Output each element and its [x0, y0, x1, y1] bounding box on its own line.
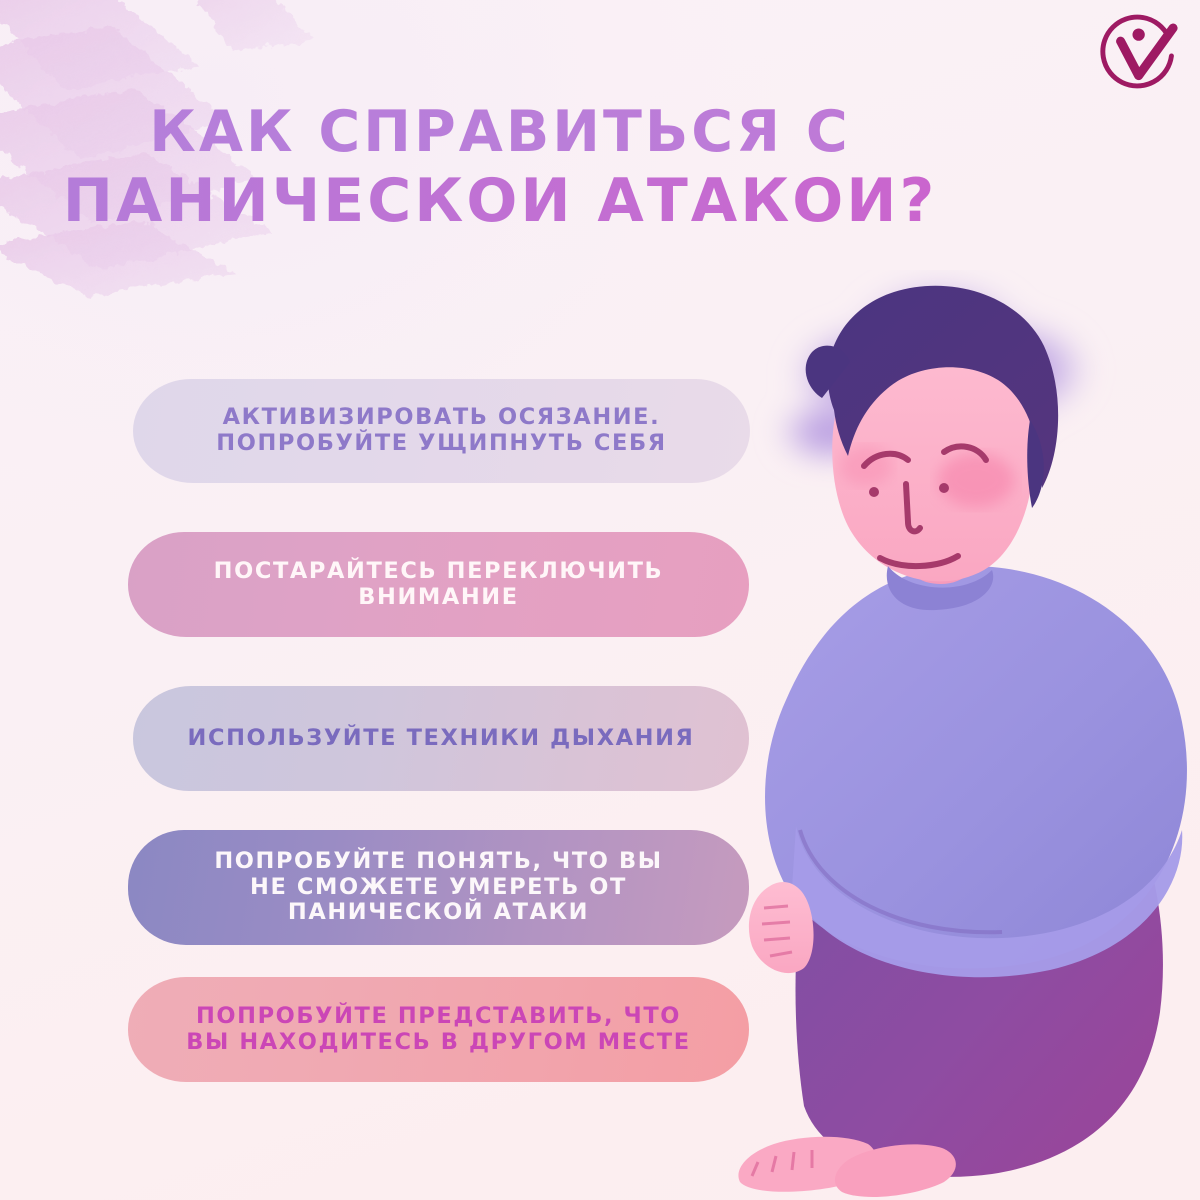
tip-text-2: ПОСТАРАЙТЕСЬ ПЕРЕКЛЮЧИТЬ ВНИМАНИЕ — [128, 559, 749, 610]
sad-person-illustration — [730, 270, 1200, 1200]
tip-text-4: ПОПРОБУЙТЕ ПОНЯТЬ, ЧТО ВЫ НЕ СМОЖЕТЕ УМЕ… — [188, 849, 688, 926]
person-hugging-knees-icon — [730, 270, 1200, 1200]
logo-icon — [1096, 10, 1178, 92]
hand — [749, 882, 814, 973]
eye-right — [939, 483, 949, 493]
tips-list: АКТИВИЗИРОВАТЬ ОСЯЗАНИЕ. ПОПРОБУЙТЕ УЩИП… — [0, 0, 790, 1200]
tip-pill-4[interactable]: ПОПРОБУЙТЕ ПОНЯТЬ, ЧТО ВЫ НЕ СМОЖЕТЕ УМЕ… — [128, 830, 749, 945]
tip-pill-1[interactable]: АКТИВИЗИРОВАТЬ ОСЯЗАНИЕ. ПОПРОБУЙТЕ УЩИП… — [133, 379, 750, 483]
tip-text-1: АКТИВИЗИРОВАТЬ ОСЯЗАНИЕ. ПОПРОБУЙТЕ УЩИП… — [190, 405, 692, 456]
infographic-poster: КАК СПРАВИТЬСЯ С ПАНИЧЕСКОЙ АТАКОЙ? АКТИ… — [0, 0, 1200, 1200]
brand-logo[interactable] — [1096, 10, 1178, 92]
cheek-right — [938, 453, 1014, 507]
tip-pill-5[interactable]: ПОПРОБУЙТЕ ПРЕДСТАВИТЬ, ЧТО ВЫ НАХОДИТЕС… — [128, 977, 749, 1082]
tip-text-3: ИСПОЛЬЗУЙТЕ ТЕХНИКИ ДЫХАНИЯ — [162, 726, 721, 752]
tip-pill-2[interactable]: ПОСТАРАЙТЕСЬ ПЕРЕКЛЮЧИТЬ ВНИМАНИЕ — [128, 532, 749, 637]
bare-feet — [738, 1137, 955, 1197]
tip-text-5: ПОПРОБУЙТЕ ПРЕДСТАВИТЬ, ЧТО ВЫ НАХОДИТЕС… — [160, 1004, 716, 1055]
eye-left — [869, 487, 879, 497]
tip-pill-3[interactable]: ИСПОЛЬЗУЙТЕ ТЕХНИКИ ДЫХАНИЯ — [133, 686, 749, 791]
